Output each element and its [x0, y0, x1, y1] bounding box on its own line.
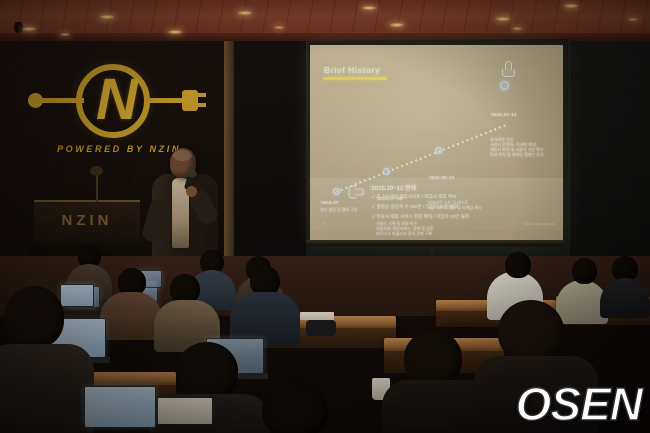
audience-head — [572, 258, 597, 284]
summary-item-text: 월평균 방문자 수 100만 / 가입자 10만 돌파 — [376, 204, 458, 209]
timeline-event-date: '2015.10~12 — [490, 112, 562, 117]
slide-title-underline — [323, 77, 387, 80]
summary-heading: '2015.10~12 현재 — [370, 183, 416, 192]
hand-pointer-icon — [349, 186, 365, 199]
papers — [158, 398, 212, 424]
timeline-node — [435, 147, 442, 154]
ceiling-downlight — [628, 18, 638, 21]
summary-item: ✓ 주요사 제휴 서비스 런칭 확대 / 가입자 10만 돌파 — [372, 214, 469, 220]
summary-item: ✓ 총 150개의 제휴사이트 / 제휴사 제휴 확보 — [372, 194, 456, 200]
conference-photo: N POWERED BY NZIN NZIN Brief History '20… — [0, 0, 650, 433]
ceiling-downlight — [362, 6, 376, 10]
projection-screen-rod — [430, 246, 433, 255]
timeline-event: '2015.10~12 정식버전 런칭 서비스 안정화 / 트래픽 확대 제휴사… — [490, 94, 562, 175]
timeline-node — [383, 168, 390, 175]
hand-pointer-icon — [502, 61, 515, 77]
audience-torso — [0, 344, 94, 433]
logo-letter: N — [86, 70, 146, 132]
audience-head — [262, 382, 328, 433]
slide-title: Brief History — [324, 65, 380, 75]
audience-head — [498, 300, 564, 362]
ceiling-downlight — [390, 23, 404, 27]
speaker-presenter — [146, 148, 232, 260]
ceiling-downlight — [274, 26, 284, 29]
timeline-node-current — [500, 81, 509, 90]
ceiling-downlight — [60, 33, 70, 36]
projection-screen-bottom-bar — [306, 240, 564, 246]
power-plug-icon — [182, 90, 198, 111]
ceiling-downlight — [564, 4, 578, 8]
ceiling-downlight — [238, 11, 252, 15]
osen-watermark: OSEN — [516, 381, 642, 427]
audience-torso — [100, 292, 162, 340]
speaker-hand — [186, 186, 197, 197]
equipment-case — [306, 320, 336, 336]
projection-screen: Brief History '2015.07 법인 설립 및 멤버 구성 '20… — [310, 45, 563, 241]
laptop-screen — [84, 386, 156, 428]
ceiling-downlight — [168, 30, 182, 34]
audience-head — [404, 330, 462, 386]
wall-right-dark — [570, 41, 650, 291]
ceiling-downlight — [22, 27, 36, 31]
audience-head — [505, 252, 531, 278]
papers — [300, 312, 334, 320]
wall-middle — [234, 41, 306, 273]
plug-cord-right-icon — [146, 98, 184, 103]
audience-head — [4, 286, 64, 348]
ceiling-downlight — [512, 27, 522, 30]
podium: NZIN — [34, 200, 140, 248]
summary-item-text: 주요사 제휴 서비스 런칭 확대 / 가입자 10만 돌파 — [376, 214, 469, 219]
timeline-event-body: 정식버전 런칭 서비스 안정화 / 트래픽 확대 제휴사 확대 및 사용자 기반… — [490, 137, 562, 158]
ceiling-downlight — [100, 15, 114, 19]
microphone-stand — [96, 172, 98, 202]
slide-footer: NZIN Confidential — [523, 222, 555, 226]
ceiling-downlight — [496, 17, 510, 21]
audience-head — [176, 342, 238, 400]
laptop-screen — [60, 284, 94, 307]
slide-page-number: 5 — [322, 221, 324, 226]
summary-item-text: 총 150개의 제휴사이트 / 제휴사 제휴 확보 — [376, 194, 456, 199]
summary-item: ✓ 월평균 방문자 수 100만 / 가입자 10만 돌파 — [372, 204, 459, 210]
podium-label: NZIN — [34, 212, 140, 229]
